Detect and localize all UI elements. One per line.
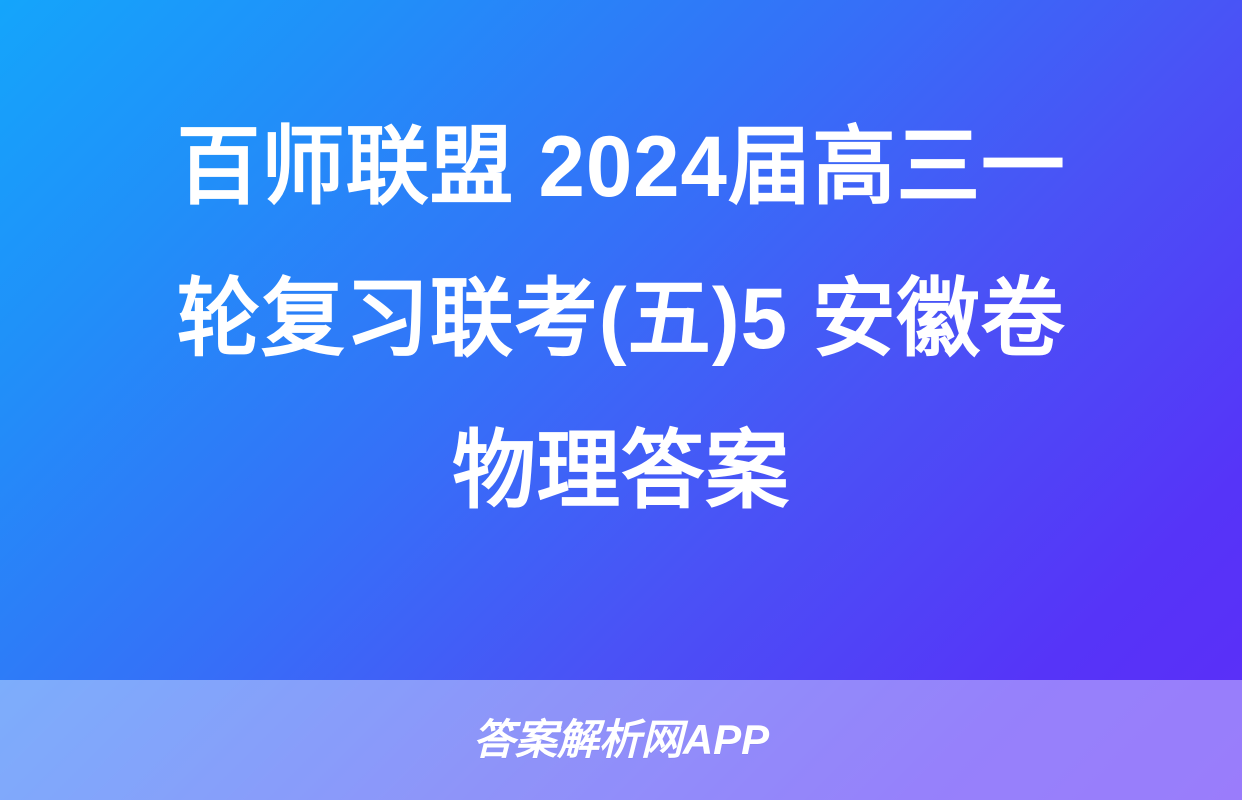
headline-line-1: 百师联盟 2024届高三一	[177, 91, 1066, 243]
app-watermark-label: 答案解析网APP	[473, 719, 769, 761]
footer-band: 答案解析网APP	[0, 680, 1242, 800]
headline-line-3: 物理答案	[452, 395, 790, 547]
headline-line-2: 轮复习联考(五)5 安徽卷	[177, 243, 1066, 395]
headline-block: 百师联盟 2024届高三一 轮复习联考(五)5 安徽卷 物理答案	[0, 0, 1242, 680]
poster-canvas: 百师联盟 2024届高三一 轮复习联考(五)5 安徽卷 物理答案 答案解析网AP…	[0, 0, 1242, 800]
